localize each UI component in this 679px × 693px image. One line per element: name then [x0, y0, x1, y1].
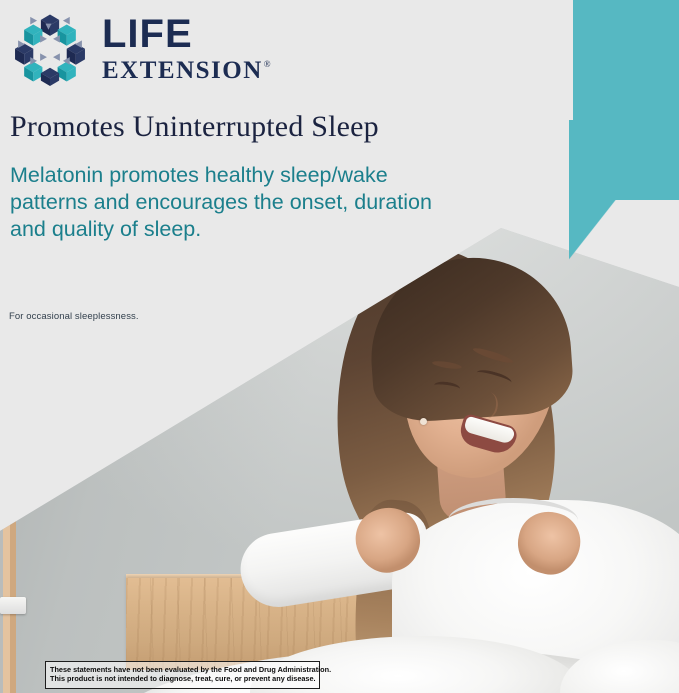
- fda-disclaimer-line-2: This product is not intended to diagnose…: [50, 674, 315, 683]
- teal-diagonal-edge: [569, 120, 679, 260]
- brand-logo[interactable]: LIFE EXTENSION ®: [12, 10, 271, 86]
- hexagon-cube-logo-icon: [12, 10, 88, 86]
- fda-disclaimer-line-1: These statements have not been evaluated…: [50, 665, 315, 674]
- fda-disclaimer-box: These statements have not been evaluated…: [45, 661, 320, 689]
- product-description: Melatonin promotes healthy sleep/wake pa…: [10, 162, 450, 243]
- usage-note: For occasional sleeplessness.: [9, 311, 139, 322]
- registered-trademark-icon: ®: [264, 60, 271, 69]
- logo-text-life: LIFE: [102, 14, 271, 54]
- hair-front: [365, 251, 576, 425]
- earring: [420, 418, 427, 425]
- page-title: Promotes Uninterrupted Sleep: [10, 110, 379, 144]
- advertisement-banner: LIFE EXTENSION ® Promotes Uninterrupted …: [0, 0, 679, 693]
- logo-text-extension: EXTENSION: [102, 58, 263, 83]
